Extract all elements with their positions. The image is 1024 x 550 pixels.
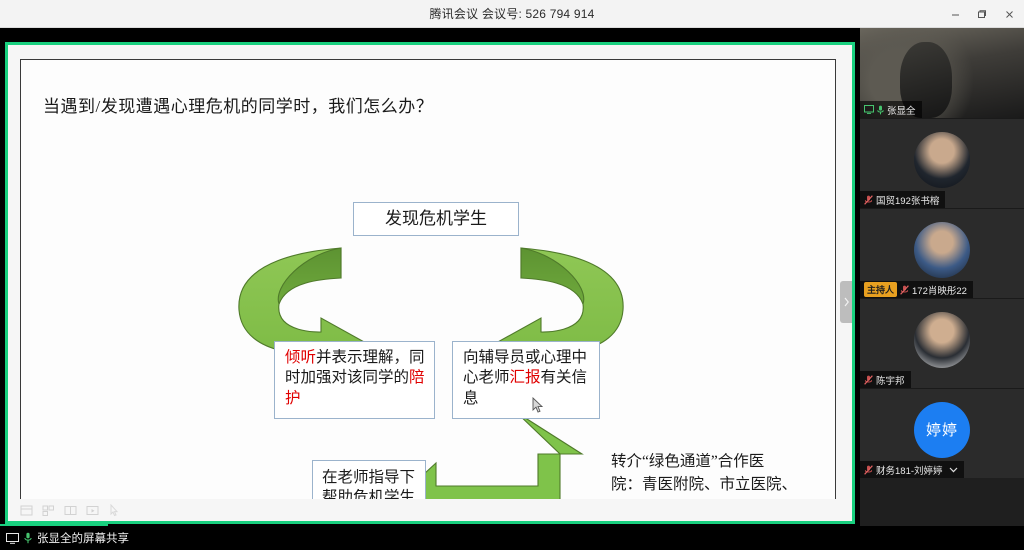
screen-share-border: 当遇到/发现遭遇心理危机的同学时，我们怎么办？ bbox=[5, 42, 855, 524]
shared-screen-region: 当遇到/发现遭遇心理危机的同学时，我们怎么办？ bbox=[0, 28, 860, 526]
report-text-3: 有 bbox=[541, 369, 557, 386]
screen-share-icon bbox=[864, 105, 874, 114]
participant-namebar: 财务181-刘婷婷 bbox=[860, 461, 964, 478]
participant-tile[interactable]: 国贸192张书榕 bbox=[860, 118, 1024, 208]
participant-tile[interactable]: 张显全 bbox=[860, 28, 1024, 118]
status-bar: 张显全的屏幕共享 bbox=[0, 526, 1024, 550]
minimize-icon[interactable] bbox=[942, 0, 968, 28]
mic-on-icon bbox=[877, 105, 884, 115]
chevron-down-icon[interactable] bbox=[949, 467, 958, 473]
avatar bbox=[914, 312, 970, 368]
slideshow-view-icon[interactable] bbox=[86, 504, 99, 517]
participant-name: 财务181-刘婷婷 bbox=[876, 463, 943, 477]
chevron-right-icon bbox=[843, 297, 850, 307]
report-text-1: 向辅导员或心理 bbox=[463, 349, 572, 366]
listen-text-3: 的 bbox=[394, 369, 410, 386]
listen-text-1: 并表示理解， bbox=[316, 349, 409, 366]
participant-sidebar[interactable]: 张显全 国贸192张书榕 主持人 172肖映彤22 bbox=[860, 28, 1024, 526]
participant-name: 国贸192张书榕 bbox=[876, 193, 939, 207]
presentation-view-bar bbox=[8, 499, 852, 521]
mic-on-icon bbox=[24, 532, 32, 544]
status-text: 张显全的屏幕共享 bbox=[37, 530, 129, 546]
referral-note-line-1: 转介“绿色通道”合作医 bbox=[611, 450, 851, 473]
normal-view-icon[interactable] bbox=[20, 504, 33, 517]
flow-box-discover-text: 发现危机学生 bbox=[385, 208, 487, 230]
maximize-icon[interactable] bbox=[968, 0, 994, 28]
close-icon[interactable] bbox=[994, 0, 1024, 28]
participant-tile[interactable]: 婷婷 财务181-刘婷婷 bbox=[860, 388, 1024, 478]
participant-name: 陈宇邦 bbox=[876, 373, 905, 387]
participant-name: 172肖映彤22 bbox=[912, 283, 967, 297]
arrow-bent-up-left bbox=[400, 412, 582, 502]
participant-tile[interactable]: 陈宇邦 bbox=[860, 298, 1024, 388]
reading-view-icon[interactable] bbox=[64, 504, 77, 517]
presentation-surface: 当遇到/发现遭遇心理危机的同学时，我们怎么办？ bbox=[8, 45, 852, 521]
slide-canvas: 当遇到/发现遭遇心理危机的同学时，我们怎么办？ bbox=[20, 59, 836, 501]
window-titlebar: 腾讯会议 会议号: 526 794 914 bbox=[0, 0, 1024, 28]
participant-name: 张显全 bbox=[887, 103, 916, 117]
flow-box-listen: 倾听并表示理解，同时加强对该同学的陪护 bbox=[274, 341, 435, 419]
mouse-cursor bbox=[532, 397, 544, 414]
host-badge: 主持人 bbox=[864, 282, 897, 297]
screen-share-icon bbox=[6, 533, 19, 544]
mic-muted-icon bbox=[864, 465, 873, 475]
report-highlight: 汇报 bbox=[510, 369, 541, 386]
participant-namebar: 张显全 bbox=[860, 101, 922, 118]
pointer-icon bbox=[108, 504, 121, 517]
participant-namebar: 陈宇邦 bbox=[860, 371, 911, 388]
listen-highlight: 倾听 bbox=[285, 349, 316, 366]
window-title: 腾讯会议 会议号: 526 794 914 bbox=[430, 5, 595, 22]
avatar bbox=[914, 132, 970, 188]
slide-title: 当遇到/发现遭遇心理危机的同学时，我们怎么办？ bbox=[43, 92, 433, 117]
avatar-initials: 婷婷 bbox=[926, 419, 958, 440]
sorter-view-icon[interactable] bbox=[42, 504, 55, 517]
flow-box-discover: 发现危机学生 bbox=[353, 202, 519, 236]
mic-muted-icon bbox=[900, 285, 909, 295]
referral-note-line-2: 院：青医附院、市立医院、 bbox=[611, 473, 851, 496]
participant-namebar: 国贸192张书榕 bbox=[860, 191, 945, 208]
flow-arrows bbox=[21, 60, 837, 502]
participant-namebar: 主持人 172肖映彤22 bbox=[860, 281, 973, 298]
mic-muted-icon bbox=[864, 375, 873, 385]
window-controls bbox=[942, 0, 1024, 28]
avatar: 婷婷 bbox=[914, 402, 970, 458]
sidebar-collapse-handle[interactable] bbox=[840, 281, 852, 323]
mic-muted-icon bbox=[864, 195, 873, 205]
avatar bbox=[914, 222, 970, 278]
participant-tile[interactable]: 主持人 172肖映彤22 bbox=[860, 208, 1024, 298]
flow-box-report: 向辅导员或心理中心老师汇报有关信息 bbox=[452, 341, 600, 419]
